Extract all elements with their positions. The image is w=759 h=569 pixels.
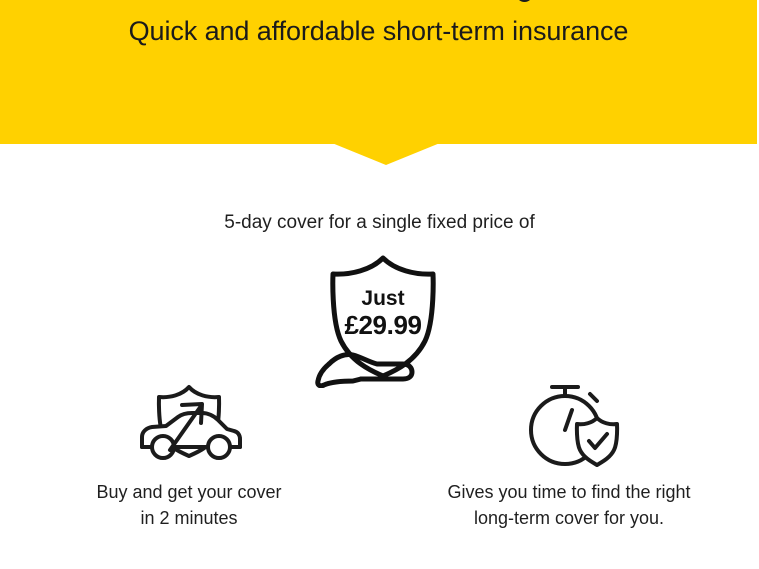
feature-caption: Buy and get your cover in 2 minutes: [39, 479, 339, 531]
cropped-headline-descender-icon: [516, 0, 533, 2]
feature-icon-wrapper: [419, 378, 719, 470]
feature-caption-line-2: long-term cover for you.: [419, 505, 719, 531]
feature-icon-wrapper: [39, 378, 339, 470]
price-lead-text: 5-day cover for a single fixed price of: [0, 211, 759, 235]
hero-banner: Quick and affordable short-term insuranc…: [0, 0, 757, 144]
down-pointer-notch-icon: [332, 143, 440, 165]
stopwatch-with-check-shield-icon: [514, 378, 624, 470]
price-label: Just: [303, 287, 463, 311]
feature-card-long-term: Gives you time to find the right long-te…: [419, 378, 719, 531]
feature-caption-line-2: in 2 minutes: [39, 505, 339, 531]
car-with-shield-arrow-icon: [124, 379, 254, 469]
feature-caption-line-1: Buy and get your cover: [39, 479, 339, 505]
feature-caption-line-1: Gives you time to find the right: [419, 479, 719, 505]
price-shield-block: Just £29.99: [303, 248, 463, 388]
hero-title: Quick and affordable short-term insuranc…: [0, 14, 757, 48]
feature-caption: Gives you time to find the right long-te…: [419, 479, 719, 531]
feature-card-buy-fast: Buy and get your cover in 2 minutes: [39, 378, 339, 531]
price-amount: £29.99: [303, 310, 463, 340]
promo-page: Quick and affordable short-term insuranc…: [0, 0, 759, 569]
